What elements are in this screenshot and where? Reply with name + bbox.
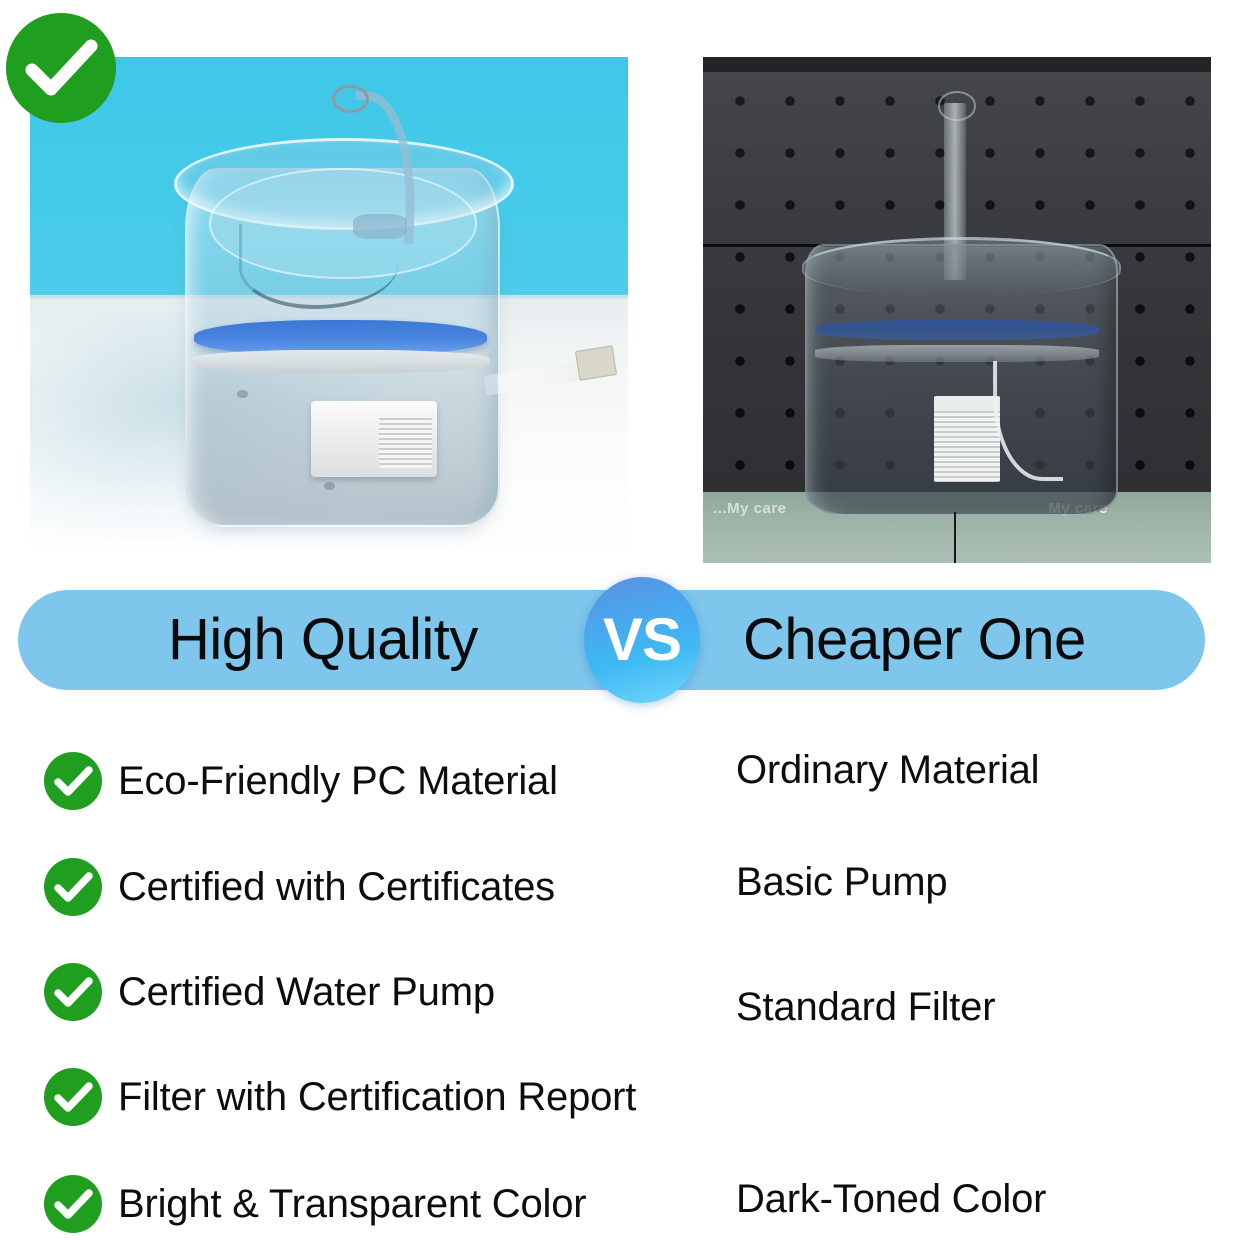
right-power-cord — [954, 512, 956, 563]
banner-title-left: High Quality — [168, 590, 478, 690]
list-item: Ordinary Material — [736, 748, 1039, 793]
green-check-badge-icon — [6, 13, 116, 123]
shelf-text-left: ...My care — [713, 500, 786, 517]
feature-label: Eco-Friendly PC Material — [118, 759, 558, 804]
right-photo-pegboard-top-rail — [703, 57, 1211, 72]
right-fountain-plate — [815, 345, 1099, 361]
right-fountain-rim — [802, 237, 1121, 296]
check-circle-icon — [44, 963, 102, 1021]
right-fountain-tube-cap — [938, 91, 976, 120]
list-item: Filter with Certification Report — [44, 1068, 636, 1126]
product-image-left — [30, 57, 628, 563]
left-fountain-pump — [311, 401, 437, 477]
check-circle-icon — [44, 1068, 102, 1126]
product-image-right: ...My care My care — [703, 57, 1211, 563]
feature-label: Bright & Transparent Color — [118, 1182, 586, 1227]
left-fountain-foot — [237, 390, 248, 398]
list-item: Certified with Certificates — [44, 858, 555, 916]
feature-label: Certified with Certificates — [118, 865, 555, 910]
left-fountain-pump-fins — [379, 418, 432, 468]
list-item: Eco-Friendly PC Material — [44, 752, 558, 810]
list-item: Standard Filter — [736, 985, 995, 1030]
left-fountain-plate — [191, 350, 490, 373]
left-usb-connector — [575, 345, 617, 380]
list-item: Bright & Transparent Color — [44, 1175, 586, 1233]
list-item: Dark-Toned Color — [736, 1177, 1046, 1222]
right-fountain-pump — [934, 411, 1000, 482]
check-circle-icon — [44, 752, 102, 810]
left-fountain-spout-ring — [332, 85, 369, 113]
banner-title-right: Cheaper One — [743, 590, 1086, 690]
left-fountain-spout-base — [353, 214, 407, 239]
feature-label: Certified Water Pump — [118, 970, 495, 1015]
right-fountain-waterline — [815, 320, 1099, 340]
list-item: Certified Water Pump — [44, 963, 495, 1021]
left-fountain-foot — [324, 482, 335, 490]
list-item: Basic Pump — [736, 860, 947, 905]
vs-label: VS — [603, 610, 681, 670]
feature-label: Filter with Certification Report — [118, 1075, 636, 1120]
check-circle-icon — [44, 858, 102, 916]
vs-badge: VS — [584, 577, 700, 703]
check-circle-icon — [44, 1175, 102, 1233]
